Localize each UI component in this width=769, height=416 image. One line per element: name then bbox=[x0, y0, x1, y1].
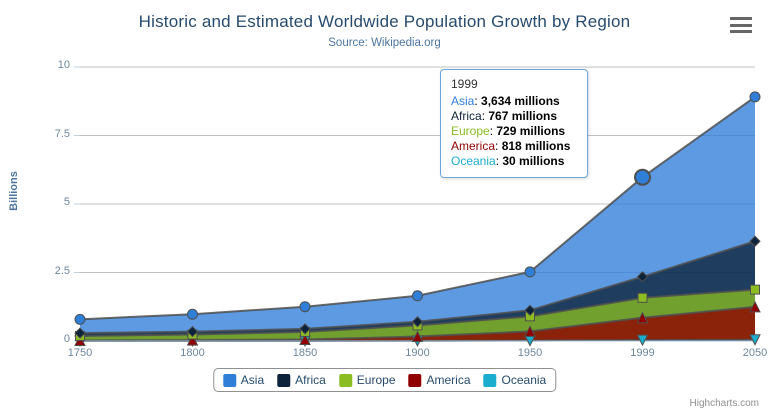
y-axis-tick-label: 2.5 bbox=[22, 265, 70, 277]
tooltip-series-value: 30 millions bbox=[502, 154, 564, 168]
x-axis-tick-label: 1950 bbox=[500, 347, 560, 359]
y-axis-tick-label: 0 bbox=[22, 333, 70, 345]
legend-swatch-icon bbox=[223, 374, 236, 387]
legend-item-oceania[interactable]: Oceania bbox=[484, 373, 547, 387]
x-axis-tick-label: 2050 bbox=[725, 347, 769, 359]
tooltip-separator: : bbox=[474, 94, 481, 108]
legend-swatch-icon bbox=[409, 374, 422, 387]
tooltip-series-value: 3,634 millions bbox=[481, 94, 560, 108]
y-axis-tick-label: 10 bbox=[22, 59, 70, 71]
legend-label: Europe bbox=[357, 373, 396, 387]
legend-label: Africa bbox=[295, 373, 326, 387]
tooltip-row: Africa: 767 millions bbox=[451, 109, 577, 124]
y-axis-tick-label: 5 bbox=[22, 196, 70, 208]
tooltip-row: America: 818 millions bbox=[451, 139, 577, 154]
tooltip-series-name: Europe bbox=[451, 124, 490, 138]
marker-asia-1850[interactable] bbox=[300, 302, 310, 312]
tooltip-rows: Asia: 3,634 millionsAfrica: 767 millions… bbox=[451, 94, 577, 169]
x-axis-tick-label: 1999 bbox=[613, 347, 673, 359]
tooltip-series-name: Africa bbox=[451, 109, 482, 123]
legend-item-africa[interactable]: Africa bbox=[277, 373, 326, 387]
x-axis-tick-label: 1750 bbox=[50, 347, 110, 359]
tooltip-series-value: 818 millions bbox=[502, 139, 571, 153]
legend: AsiaAfricaEuropeAmericaOceania bbox=[213, 368, 556, 392]
legend-item-europe[interactable]: Europe bbox=[339, 373, 396, 387]
marker-asia-1999[interactable] bbox=[635, 170, 650, 185]
legend-swatch-icon bbox=[339, 374, 352, 387]
tooltip-separator: : bbox=[495, 139, 502, 153]
marker-asia-1800[interactable] bbox=[188, 309, 198, 319]
tooltip: 1999 Asia: 3,634 millionsAfrica: 767 mil… bbox=[440, 69, 588, 178]
marker-asia-1750[interactable] bbox=[75, 314, 85, 324]
legend-item-america[interactable]: America bbox=[409, 373, 471, 387]
tooltip-series-name: America bbox=[451, 139, 495, 153]
x-axis-tick-label: 1850 bbox=[275, 347, 335, 359]
x-axis-tick-label: 1900 bbox=[388, 347, 448, 359]
legend-item-asia[interactable]: Asia bbox=[223, 373, 264, 387]
legend-label: Asia bbox=[241, 373, 264, 387]
legend-label: Oceania bbox=[502, 373, 547, 387]
series-areas bbox=[80, 97, 755, 341]
highcharts-container: Historic and Estimated Worldwide Populat… bbox=[0, 0, 769, 416]
y-axis-tick-label: 7.5 bbox=[22, 128, 70, 140]
marker-asia-1900[interactable] bbox=[413, 291, 423, 301]
marker-europe-1999[interactable] bbox=[638, 293, 647, 302]
x-axis-tick-label: 1800 bbox=[163, 347, 223, 359]
legend-label: America bbox=[427, 373, 471, 387]
tooltip-series-name: Oceania bbox=[451, 154, 496, 168]
tooltip-header: 1999 bbox=[451, 77, 577, 91]
tooltip-series-value: 767 millions bbox=[488, 109, 557, 123]
legend-swatch-icon bbox=[484, 374, 497, 387]
tooltip-row: Oceania: 30 millions bbox=[451, 154, 577, 169]
tooltip-row: Europe: 729 millions bbox=[451, 124, 577, 139]
marker-asia-2050[interactable] bbox=[750, 92, 760, 102]
legend-swatch-icon bbox=[277, 374, 290, 387]
plot-area: Billions 02.557.510 17501800185019001950… bbox=[0, 0, 769, 416]
tooltip-series-value: 729 millions bbox=[496, 124, 565, 138]
marker-europe-2050[interactable] bbox=[751, 285, 760, 294]
marker-asia-1950[interactable] bbox=[525, 267, 535, 277]
tooltip-series-name: Asia bbox=[451, 94, 474, 108]
credits-label: Highcharts.com bbox=[690, 398, 759, 409]
tooltip-row: Asia: 3,634 millions bbox=[451, 94, 577, 109]
